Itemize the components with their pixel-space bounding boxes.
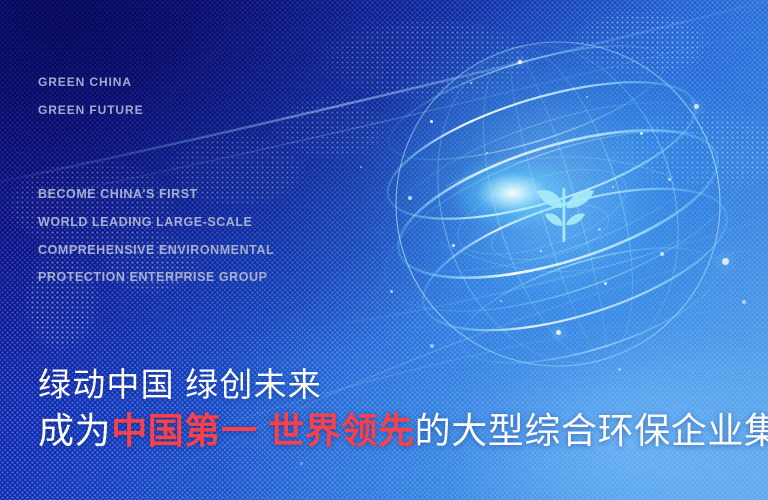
tagline-green-future: GREEN FUTURE [38,103,143,117]
headline-line-2: 成为中国第一 世界领先的大型综合环保企业集团 [38,409,768,452]
headline-block: 绿动中国 绿创未来 成为中国第一 世界领先的大型综合环保企业集团 [38,366,768,452]
tagline-green-china: GREEN CHINA [38,75,132,89]
slogan-line-1: BECOME CHINA'S FIRST [38,187,198,201]
slogan-line-2: WORLD LEADING LARGE-SCALE [38,215,252,229]
headline-suffix: 的大型综合环保企业集团 [415,410,768,451]
headline-line-1: 绿动中国 绿创未来 [38,366,768,405]
hero-banner: GREEN CHINA GREEN FUTURE BECOME CHINA'S … [0,0,768,500]
slogan-line-4: PROTECTION ENTERPRISE GROUP [38,270,267,284]
headline-highlight: 中国第一 世界领先 [111,410,414,451]
headline-prefix: 成为 [38,410,111,451]
slogan-line-3: COMPREHENSIVE ENVIRONMENTAL [38,243,274,257]
